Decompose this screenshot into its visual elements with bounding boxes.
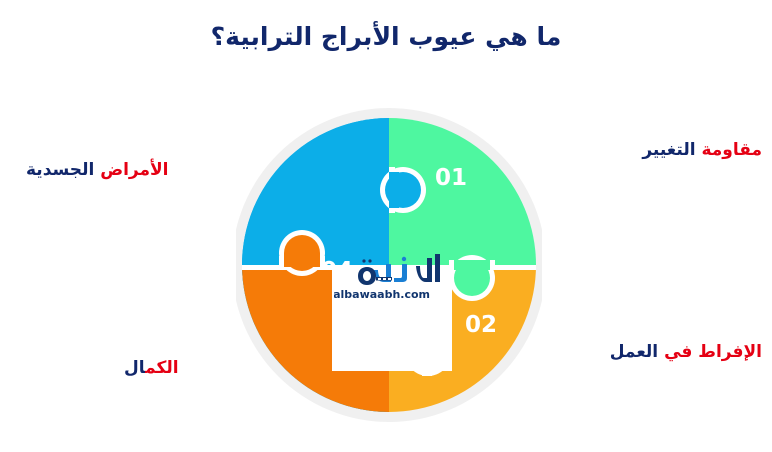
label-resistance-to-change: مقاومة التغيير <box>642 140 762 161</box>
label-perfection-highlight: الكم <box>145 358 179 378</box>
piece-number-02: 02 <box>465 312 497 338</box>
label-physical-highlight: الأمراض <box>100 160 168 180</box>
puzzle-wheel: 04 01 <box>236 100 542 430</box>
label-physical-base: الجسدية <box>26 160 94 180</box>
infographic-root: ما هي عيوب الأبراج الترابية؟ 04 <box>0 0 772 452</box>
label-change-highlight: مقاومة <box>701 140 762 160</box>
label-perfectionism: الكمال <box>124 358 179 379</box>
label-physical-illness: الأمراض الجسدية <box>26 160 169 181</box>
page-title: ما هي عيوب الأبراج الترابية؟ <box>0 22 772 52</box>
label-perfection-base: ال <box>124 358 145 378</box>
piece-04-socket <box>279 230 325 276</box>
label-overwork-base: العمل <box>610 342 658 362</box>
piece-number-01: 01 <box>435 165 467 191</box>
label-overwork-highlight: الإفراط في <box>664 342 762 362</box>
label-overwork: الإفراط في العمل <box>610 342 762 363</box>
label-change-base: التغيير <box>642 140 695 160</box>
